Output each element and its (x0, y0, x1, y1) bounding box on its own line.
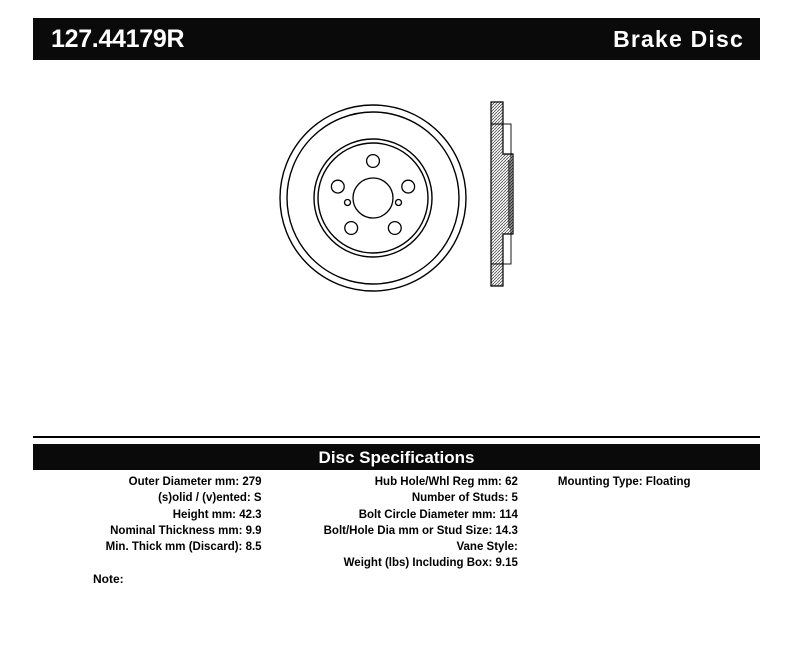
spec-row: Vane Style: (457, 539, 518, 555)
spec-row: (s)olid / (v)ented: S (158, 490, 262, 506)
spec-column-middle: Hub Hole/Whl Reg mm: 62 Number of Studs:… (268, 474, 524, 572)
product-category-label: Brake Disc (613, 28, 744, 51)
header-bar: 127.44179R Brake Disc (33, 18, 760, 60)
spec-row: Height mm: 42.3 (173, 507, 262, 523)
rotor-cross-section-view (473, 94, 543, 294)
spec-row: Hub Hole/Whl Reg mm: 62 (375, 474, 518, 490)
technical-drawing (33, 80, 760, 410)
spec-row: Min. Thick mm (Discard): 8.5 (106, 539, 262, 555)
rotor-face-view (273, 98, 473, 298)
page-title: 127.44179R (51, 27, 184, 52)
note-area: Note: (33, 570, 760, 588)
spec-section-header: Disc Specifications (33, 444, 760, 470)
spec-row: Bolt Circle Diameter mm: 114 (359, 507, 518, 523)
spec-row: Mounting Type: Floating (558, 474, 691, 490)
spec-column-right: Mounting Type: Floating (524, 474, 760, 490)
spec-row: Nominal Thickness mm: 9.9 (110, 523, 261, 539)
spec-row: Outer Diameter mm: 279 (129, 474, 262, 490)
spec-column-left: Outer Diameter mm: 279 (s)olid / (v)ente… (33, 474, 268, 555)
spec-row: Number of Studs: 5 (412, 490, 518, 506)
spec-row: Bolt/Hole Dia mm or Stud Size: 14.3 (324, 523, 518, 539)
spec-section-title: Disc Specifications (319, 449, 475, 466)
note-label: Note: (93, 572, 124, 586)
section-divider (33, 436, 760, 438)
specifications-table: Outer Diameter mm: 279 (s)olid / (v)ente… (33, 474, 760, 572)
